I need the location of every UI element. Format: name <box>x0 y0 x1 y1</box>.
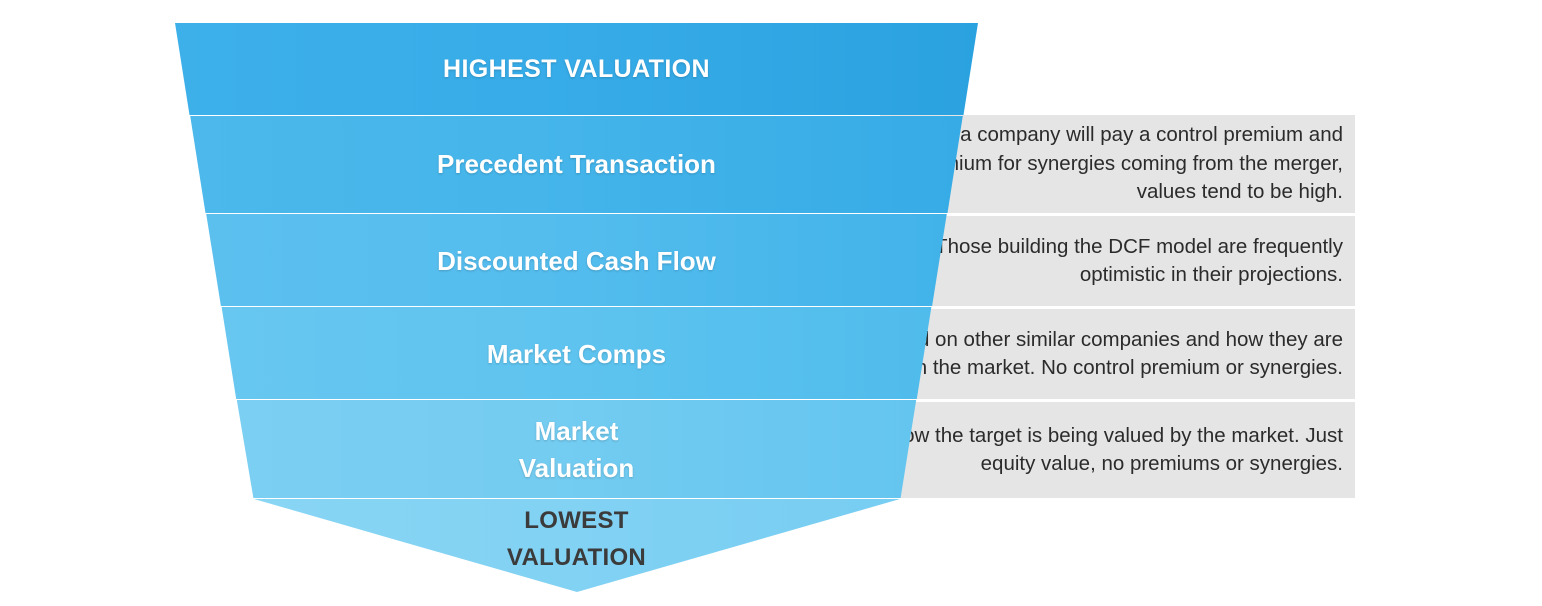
funnel-label-text: Precedent Transaction <box>437 149 716 180</box>
funnel-label-text-line-2: VALUATION <box>507 539 646 576</box>
funnel-label-market-comps: Market Comps <box>175 309 978 399</box>
funnel-label-lowest-valuation: LOWEST VALUATION <box>175 498 978 580</box>
funnel-label-market-valuation: Market Valuation <box>175 402 978 498</box>
valuation-funnel-diagram: Since a company will pay a control premi… <box>0 0 1542 606</box>
funnel-label-text-line-1: Market <box>535 413 619 450</box>
funnel-label-text: Discounted Cash Flow <box>437 246 716 277</box>
funnel-label-group: HIGHEST VALUATION Precedent Transaction … <box>0 0 1542 606</box>
funnel-label-text-line-1: LOWEST <box>524 502 628 539</box>
funnel-label-highest-valuation: HIGHEST VALUATION <box>175 23 978 115</box>
funnel-label-text: Market Comps <box>487 339 666 370</box>
funnel-label-text-line-2: Valuation <box>519 450 635 487</box>
funnel-label-discounted-cash-flow: Discounted Cash Flow <box>175 216 978 306</box>
funnel-label-precedent-transaction: Precedent Transaction <box>175 115 978 213</box>
funnel-label-text: HIGHEST VALUATION <box>443 55 710 84</box>
